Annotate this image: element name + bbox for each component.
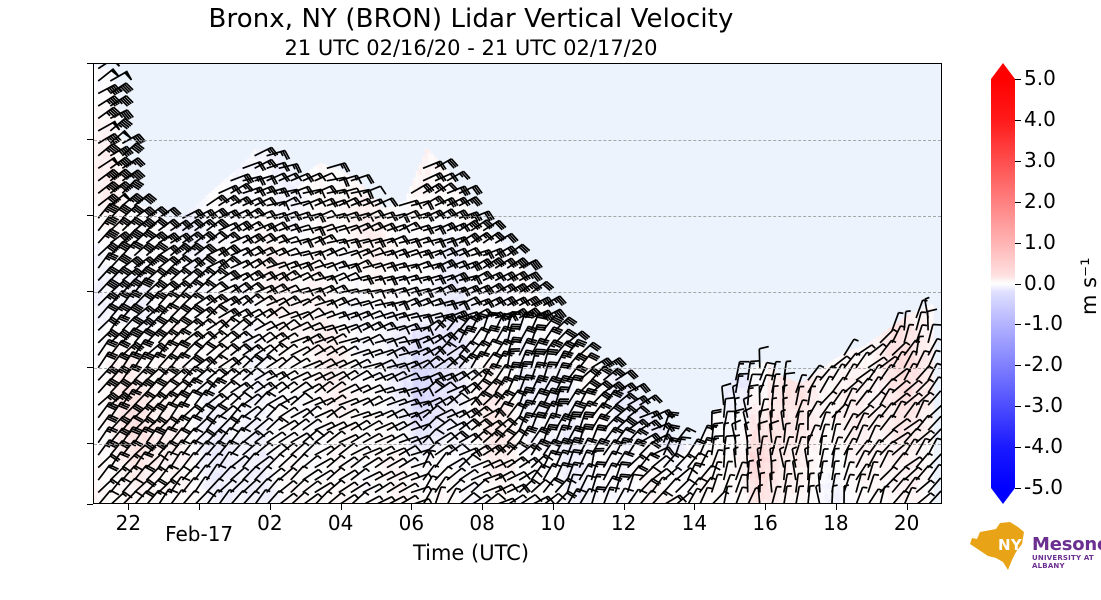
y-tick (87, 443, 93, 444)
colorbar-tick (1015, 79, 1021, 80)
x-tick-label: 20 (867, 511, 947, 535)
colorbar-tick-label: 3.0 (1024, 148, 1056, 172)
x-tick (553, 504, 554, 510)
colorbar-extend-max-arrow (991, 63, 1015, 79)
nys-mesonet-logo: NYS Mesonet UNIVERSITY AT ALBANY (966, 516, 1096, 578)
x-tick (765, 504, 766, 510)
gridline (94, 292, 941, 293)
colorbar-tick (1015, 120, 1021, 121)
x-tick (624, 504, 625, 510)
colorbar-tick (1015, 406, 1021, 407)
y-tick (87, 367, 93, 368)
colorbar-extend-min-arrow (991, 488, 1015, 504)
colorbar-tick (1015, 447, 1021, 448)
colorbar-tick-label: 2.0 (1024, 189, 1056, 213)
x-tick (199, 504, 200, 510)
x-tick-label: 10 (513, 511, 593, 535)
x-tick-label: 18 (796, 511, 876, 535)
x-tick-label: 02 (230, 511, 310, 535)
colorbar-tick-label: -1.0 (1024, 311, 1063, 335)
x-tick (694, 504, 695, 510)
x-tick (411, 504, 412, 510)
gridline (94, 140, 941, 141)
colorbar-tick-label: -2.0 (1024, 352, 1063, 376)
y-tick (87, 63, 93, 64)
x-tick-label: 16 (725, 511, 805, 535)
x-axis-title: Time (UTC) (0, 541, 942, 565)
gridline (94, 444, 941, 445)
colorbar-tick (1015, 202, 1021, 203)
y-tick (87, 291, 93, 292)
colorbar-tick (1015, 161, 1021, 162)
colorbar-tick-label: 0.0 (1024, 271, 1056, 295)
x-tick-label: 12 (584, 511, 664, 535)
gridline (94, 368, 941, 369)
y-tick (87, 139, 93, 140)
x-tick-label: 22 (88, 511, 168, 535)
y-tick (87, 504, 93, 505)
colorbar-tick-label: -4.0 (1024, 434, 1063, 458)
x-tick-label: 14 (654, 511, 734, 535)
x-tick (128, 504, 129, 510)
x-tick (341, 504, 342, 510)
colorbar-tick (1015, 324, 1021, 325)
plot-area (93, 63, 942, 504)
gridline (94, 216, 941, 217)
colorbar-title: m s⁻¹ (1077, 257, 1101, 315)
logo-university-text: UNIVERSITY AT ALBANY (1032, 554, 1096, 570)
colorbar-tick (1015, 284, 1021, 285)
colorbar-tick-label: 4.0 (1024, 107, 1056, 131)
plot-clip (94, 64, 941, 503)
x-tick-label: 04 (301, 511, 381, 535)
x-tick-label: 08 (442, 511, 522, 535)
logo-mesonet-text: Mesonet (1032, 534, 1101, 555)
x-tick (836, 504, 837, 510)
x-tick (482, 504, 483, 510)
x-tick (270, 504, 271, 510)
colorbar-tick-label: 1.0 (1024, 230, 1056, 254)
y-tick (87, 215, 93, 216)
colorbar-tick-label: -5.0 (1024, 475, 1063, 499)
colorbar-tick (1015, 365, 1021, 366)
figure: Bronx, NY (BRON) Lidar Vertical Velocity… (0, 0, 1101, 600)
colorbar: -5.0-4.0-3.0-2.0-1.00.01.02.03.04.05.0 m… (991, 63, 1101, 504)
x-tick (907, 504, 908, 510)
colorbar-tick-label: 5.0 (1024, 66, 1056, 90)
colorbar-gradient (991, 79, 1015, 488)
chart-title: Bronx, NY (BRON) Lidar Vertical Velocity (0, 4, 942, 34)
colorbar-tick (1015, 243, 1021, 244)
x-tick-label: 06 (371, 511, 451, 535)
chart-subtitle: 21 UTC 02/16/20 - 21 UTC 02/17/20 (0, 36, 942, 60)
data-canvas (94, 64, 941, 503)
colorbar-tick-label: -3.0 (1024, 393, 1063, 417)
colorbar-tick (1015, 488, 1021, 489)
logo-nys-text: NYS (998, 536, 1033, 554)
